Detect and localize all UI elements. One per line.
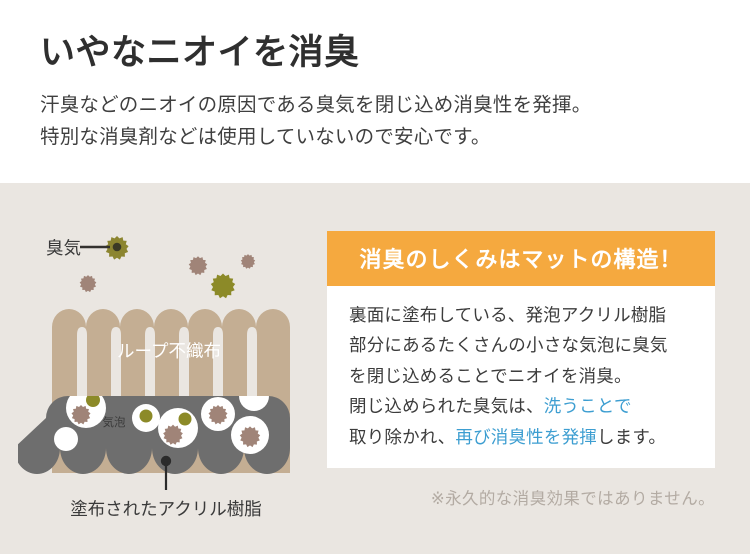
diagram-label-loop-fabric: ループ不織布 [117,341,221,361]
card-line-4-highlight: 洗うことで [544,396,632,416]
air-bubble [201,397,235,431]
card-line-5-suffix: します。 [597,427,666,447]
odor-particle-group [80,236,256,298]
card-banner-title: 消臭のしくみはマットの構造！ [327,231,715,286]
mechanism-card: 消臭のしくみはマットの構造！ 裏面に塗布している、発泡アクリル樹脂 部分にあるた… [327,231,715,468]
odor-particle-icon [211,273,235,298]
header-subtitle-line-1: 汗臭などのニオイの原因である臭気を閉じ込め消臭性を発揮。 [40,90,750,122]
card-line-5-text: 取り除かれ、 [349,427,455,447]
diagram-label-bubble: 気泡 [103,415,126,429]
card-line-2: 部分にあるたくさんの小さな気泡に臭気 [349,330,695,360]
odor-particle-icon [189,256,208,275]
header-subtitle-line-2: 特別な消臭剤などは使用していないので安心です。 [40,122,750,154]
card-line-1: 裏面に塗布している、発泡アクリル樹脂 [349,300,695,330]
infographic-page: いやなニオイを消臭 汗臭などのニオイの原因である臭気を閉じ込め消臭性を発揮。 特… [0,0,750,554]
air-bubble [158,408,198,448]
content-panel: 臭気 ループ不織布 気泡 塗布されたアクリル樹脂 消臭のしくみはマットの構造！ … [0,183,750,554]
air-bubble [231,416,269,454]
mat-structure-diagram: 臭気 ループ不織布 気泡 塗布されたアクリル樹脂 [18,223,318,523]
air-bubble [54,427,78,451]
header-section: いやなニオイを消臭 汗臭などのニオイの原因である臭気を閉じ込め消臭性を発揮。 特… [0,0,750,183]
diagram-label-odor: 臭気 [46,238,81,258]
odor-particle-icon [241,254,255,269]
disclaimer-footnote: ※永久的な消臭効果ではありません。 [0,485,715,509]
card-line-5: 取り除かれ、再び消臭性を発揮します。 [349,422,695,452]
card-body: 裏面に塗布している、発泡アクリル樹脂 部分にあるたくさんの小さな気泡に臭気 を閉… [327,286,715,468]
page-title: いやなニオイを消臭 [40,32,750,74]
card-line-3: を閉じ込めることでニオイを消臭。 [349,361,695,391]
card-line-4: 閉じ込められた臭気は、洗うことで [349,391,695,421]
card-line-4-text: 閉じ込められた臭気は、 [349,396,544,416]
card-line-5-highlight: 再び消臭性を発揮 [455,427,597,447]
odor-particle-icon [80,275,97,292]
air-bubble [132,404,160,432]
